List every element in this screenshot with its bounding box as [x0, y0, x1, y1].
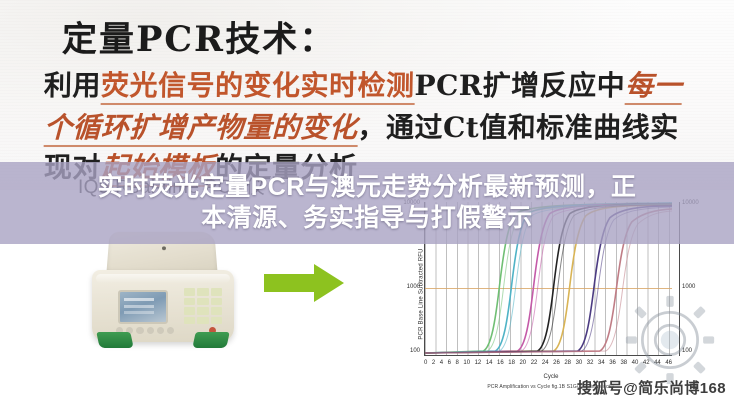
x-tick: 4 [440, 360, 443, 370]
machine-foot-left [96, 332, 133, 348]
slide-body-line-2: 个循环扩增产物量的变化，通过Ct值和标准曲线实 [44, 106, 679, 146]
x-tick: 6 [448, 360, 451, 370]
x-tick: 12 [475, 360, 482, 370]
x-tick: 18 [508, 360, 515, 370]
x-tick: 28 [564, 360, 571, 370]
slide-heading: 定量PCR技术： [61, 11, 336, 62]
x-tick: 26 [553, 360, 560, 370]
green-arrow-icon [262, 262, 346, 304]
x-tick: 36 [609, 360, 616, 370]
x-tick: 16 [497, 360, 504, 370]
line1-highlight-2: 每一 [625, 69, 683, 105]
machine-keypad [184, 288, 222, 324]
x-tick: 34 [598, 360, 605, 370]
line2-highlight: 个循环扩增产物量的变化 [44, 111, 358, 147]
machine-lcd-screen [118, 290, 168, 324]
line1-text-a: 利用 [44, 69, 102, 102]
title-overlay-band: 实时荧光定量PCR与澳元走势分析最新预测，正 本清源、务实指导与打假警示 [0, 162, 734, 244]
watermark-text: 搜狐号@简乐尚博168 [577, 377, 730, 398]
x-tick: 10 [463, 360, 470, 370]
x-tick: 14 [486, 360, 493, 370]
x-tick: 30 [576, 360, 583, 370]
machine-body [92, 270, 234, 342]
line1-text-b: PCR扩增反应中 [414, 69, 625, 102]
overlay-title-line-2: 本清源、务实指导与打假警示 [201, 203, 533, 235]
x-tick: 32 [587, 360, 594, 370]
x-tick: 24 [542, 360, 549, 370]
x-tick: 20 [519, 360, 526, 370]
line1-highlight: 荧光信号的变化实时检测 [101, 69, 415, 105]
x-tick: 2 [432, 360, 435, 370]
machine-foot-right [192, 332, 229, 348]
slide-screenshot: 定量PCR技术： 利用荧光信号的变化实时检测PCR扩增反应中每一 个循环扩增产物… [0, 0, 734, 400]
pcr-machine-image [82, 230, 247, 358]
y-tick-left-100: 100 [398, 348, 420, 354]
y-tick-right-1000: 1000 [682, 284, 710, 290]
y-tick-left-1000: 1000 [398, 284, 420, 290]
watermark: 搜狐号@简乐尚博168 [577, 377, 730, 398]
slide-body-line-1: 利用荧光信号的变化实时检测PCR扩增反应中每一 [44, 64, 683, 104]
line2-text-b: ，通过Ct值和标准曲线实 [357, 111, 679, 144]
x-tick: 8 [456, 360, 459, 370]
x-tick: 22 [531, 360, 538, 370]
x-tick: 0 [424, 360, 427, 370]
overlay-title-line-1: 实时荧光定量PCR与澳元走势分析最新预测，正 [98, 172, 637, 204]
gear-icon [624, 294, 716, 386]
